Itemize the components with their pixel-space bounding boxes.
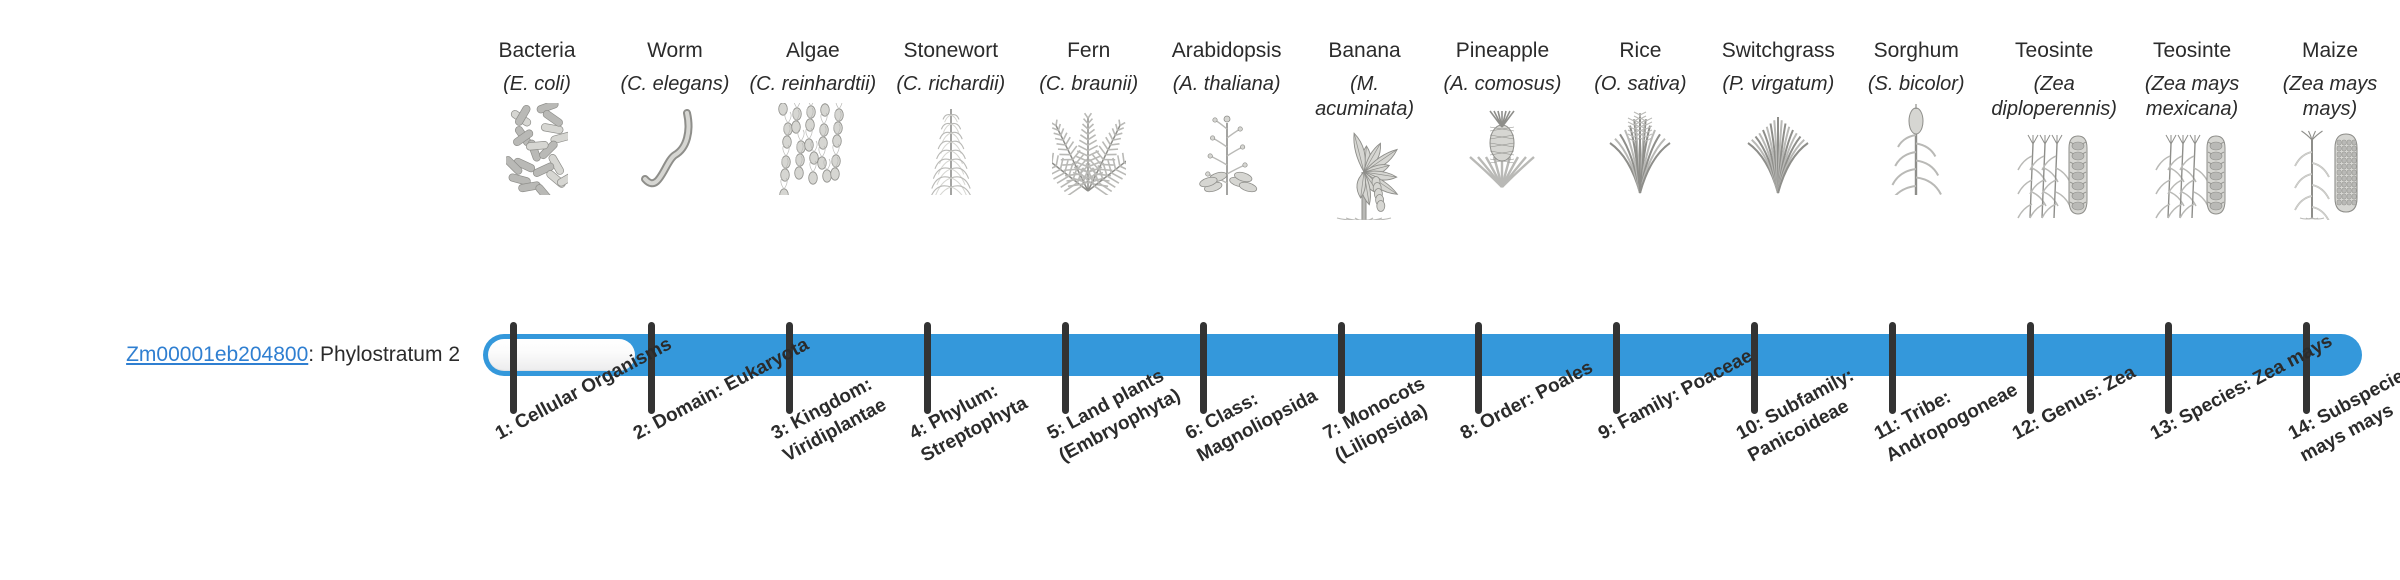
stratum-number: 5:: [1044, 418, 1069, 444]
stratum-name: Subfamily: Panicoideae: [1745, 365, 1858, 467]
stratum-number: 3:: [768, 418, 793, 444]
stratum-name: Family: Poaceae: [1615, 345, 1756, 433]
stratum-number: 8:: [1457, 418, 1482, 444]
stratum-labels-row: 1: Cellular Organisms2: Domain: Eukaryot…: [0, 0, 2400, 580]
stratum-number: 7:: [1320, 418, 1345, 444]
phylostratum-figure: Bacteria(E. coli)Worm(C. elegans)Algae(C…: [0, 0, 2400, 580]
stratum-number: 6:: [1182, 418, 1207, 444]
stratum-name: Tribe: Andropogoneae: [1883, 379, 2021, 466]
stratum-number: 4:: [906, 418, 931, 444]
stratum-name: Kingdom: Viridiplantae: [780, 374, 890, 467]
stratum-number: 12:: [2009, 413, 2043, 444]
stratum-number: 2:: [630, 418, 655, 444]
stratum-name: Class: Magnoliopsida: [1194, 385, 1321, 466]
stratum-number: 1:: [492, 418, 517, 444]
stratum-number: 13:: [2147, 413, 2181, 444]
stratum-name: Phylum: Streptophyta: [918, 380, 1031, 466]
stratum-number: 9:: [1595, 418, 1620, 444]
